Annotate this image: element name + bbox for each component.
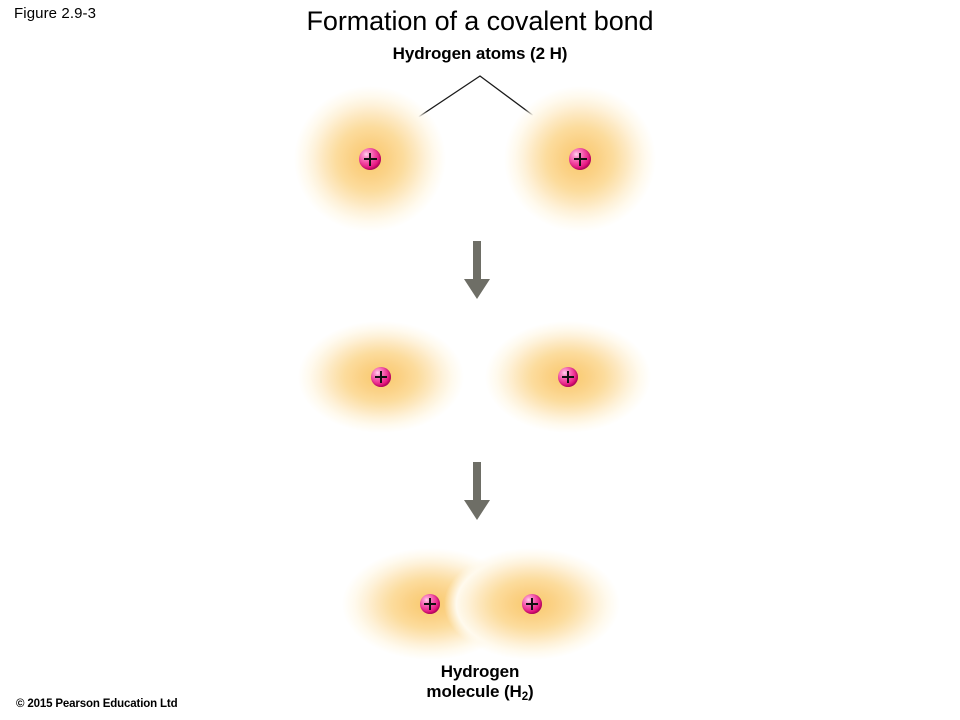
process-arrow-down: [457, 462, 497, 520]
hydrogen-atoms-pointer-line: [0, 0, 960, 720]
process-arrow-down: [457, 241, 497, 299]
molecule-label-line2-prefix: molecule (H: [426, 682, 521, 701]
copyright-notice: © 2015 Pearson Education Ltd: [16, 698, 177, 710]
figure-canvas: Figure 2.9-3 Formation of a covalent bon…: [0, 0, 960, 720]
molecule-label-line1: Hydrogen: [441, 662, 520, 681]
molecule-label-subscript: 2: [522, 691, 528, 703]
stage-label-hydrogen-molecule: Hydrogen molecule (H2): [0, 662, 960, 702]
molecule-label-line2-suffix: ): [528, 682, 534, 701]
